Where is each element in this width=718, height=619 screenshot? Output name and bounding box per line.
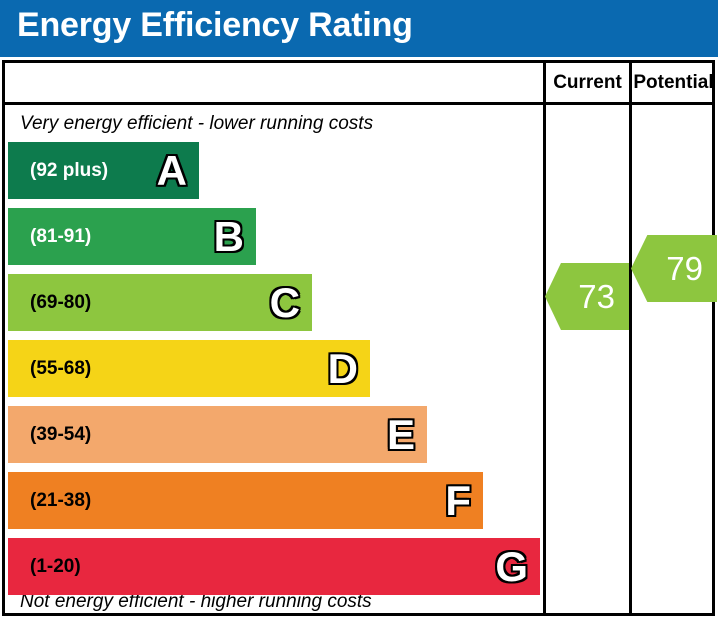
band-letter-d: D — [328, 348, 358, 390]
band-range-label: (1-20) — [30, 556, 81, 578]
potential-rating-value: 79 — [666, 252, 703, 285]
rating-bands: (92 plus)A(81-91)B(69-80)C(55-68)D(39-54… — [5, 63, 540, 613]
column-divider-potential — [629, 63, 632, 613]
band-range-label: (92 plus) — [30, 160, 108, 182]
rating-band-b: (81-91)B — [8, 208, 256, 265]
column-header-potential: Potential — [632, 63, 715, 102]
band-range-label: (69-80) — [30, 292, 91, 314]
current-rating-value: 73 — [578, 280, 615, 313]
column-header-current: Current — [546, 63, 629, 102]
rating-band-d: (55-68)D — [8, 340, 370, 397]
column-divider-current — [543, 63, 546, 613]
band-letter-b: B — [214, 216, 244, 258]
band-letter-a: A — [157, 150, 187, 192]
band-range-label: (21-38) — [30, 490, 91, 512]
band-letter-g: G — [495, 546, 528, 588]
rating-band-f: (21-38)F — [8, 472, 483, 529]
energy-efficiency-rating-chart: Energy Efficiency Rating Current Potenti… — [0, 0, 718, 619]
band-letter-f: F — [445, 480, 471, 522]
band-letter-c: C — [270, 282, 300, 324]
page-title: Energy Efficiency Rating — [17, 6, 413, 45]
band-range-label: (39-54) — [30, 424, 91, 446]
rating-band-e: (39-54)E — [8, 406, 427, 463]
rating-band-a: (92 plus)A — [8, 142, 199, 199]
potential-rating-arrow: 79 — [631, 235, 717, 302]
band-letter-e: E — [387, 414, 415, 456]
current-rating-arrow: 73 — [545, 263, 629, 330]
chart-table-frame: Current Potential Very energy efficient … — [2, 60, 715, 616]
band-range-label: (55-68) — [30, 358, 91, 380]
rating-band-c: (69-80)C — [8, 274, 312, 331]
rating-band-g: (1-20)G — [8, 538, 540, 595]
chart-title-bar: Energy Efficiency Rating — [0, 0, 718, 57]
band-range-label: (81-91) — [30, 226, 91, 248]
